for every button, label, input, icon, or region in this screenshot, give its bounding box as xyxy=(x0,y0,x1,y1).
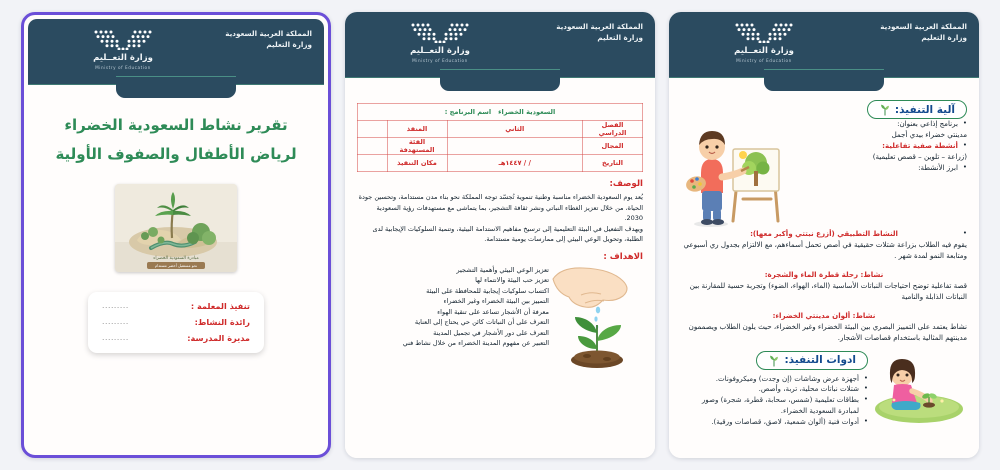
card1-body: آلية التنفيذ: برنامج إذاعي بعنوان: xyxy=(669,78,979,458)
row-0-label2: المنفذ xyxy=(387,121,447,138)
row-2-value2 xyxy=(358,155,388,172)
mechanism-text-col: برنامج إذاعي بعنوان: مدينتي خضراء بيدي أ… xyxy=(799,119,967,173)
moe-header: المملكة العربية السعودية وزارة التعليم xyxy=(669,12,979,78)
saudi-dots-mark-icon xyxy=(92,29,154,50)
signature-box: تنفيذ المعلمة : ......... رائدة النشاط: … xyxy=(88,292,264,353)
moe-logo: وزارة التعــليم Ministry of Education xyxy=(92,29,154,70)
signature-row: رائدة النشاط: ......... xyxy=(102,317,250,327)
signature-row: مديرة المدرسة: ......... xyxy=(102,333,250,343)
tools-bullets: أجهزة عرض وشاشات (إن وجدت) وميكروفونات. … xyxy=(681,374,868,428)
activity-1-text: قصة تفاعلية توضح احتياجات النباتات الأسا… xyxy=(681,281,967,303)
tools-heading-label: ادوات التنفيذ: xyxy=(784,354,856,366)
kingdom-heading: المملكة العربية السعودية وزارة التعليم xyxy=(556,21,643,43)
table-row: التاريخ / / ١٤٤٧هـ مكان التنفيذ xyxy=(358,155,643,172)
signature-dots[interactable]: ......... xyxy=(102,301,129,310)
kingdom-line-1: المملكة العربية السعودية xyxy=(556,21,643,32)
header-tab-shape xyxy=(440,69,560,91)
table-row: الفصل الدراسي الثاني المنفذ xyxy=(358,121,643,138)
program-info-table: السعودية الخضراء اسم البرنامج : الفصل ال… xyxy=(357,103,643,172)
row-1-label: المجال xyxy=(583,138,643,155)
goal-item: التعرف على أن النباتات كائن حي يحتاج إلى… xyxy=(357,317,549,328)
moe-logo: وزارة التعــليم Ministry of Education xyxy=(733,22,795,63)
activity-2: نشاط: ألوان مدينتي الخضراء: نشاط يعتمد ع… xyxy=(681,303,967,344)
list-item: أنشطة صفية تفاعلية: xyxy=(799,141,967,152)
saudi-green-initiative-illustration: مبادرة السعودية الخضراء نحو مستقبل أخضر … xyxy=(115,184,237,272)
mechanism-bullets-2: أنشطة صفية تفاعلية: xyxy=(799,141,967,152)
row-2-value: / / ١٤٤٧هـ xyxy=(447,155,583,172)
kingdom-heading: المملكة العربية السعودية وزارة التعليم xyxy=(225,28,312,50)
list-item: بطاقات تعليمية (شمس، سحابة، قطرة، شجرة) … xyxy=(681,395,868,417)
goal-item: معرفة أن الأشجار تساعد على تنقية الهواء xyxy=(357,307,549,318)
card2-inner: المملكة العربية السعودية وزارة التعليم xyxy=(345,12,655,458)
sprout-icon xyxy=(768,354,780,367)
signature-label: مديرة المدرسة: xyxy=(187,333,250,343)
row-0-value: الثاني xyxy=(447,121,583,138)
description-heading: الوصف: xyxy=(357,179,643,189)
cover-title-line-2: لرياض الأطفال والصفوف الأولية xyxy=(55,140,296,169)
row-0-label: الفصل الدراسي xyxy=(583,121,643,138)
girl-planting-icon xyxy=(872,351,967,425)
row-1-value xyxy=(447,138,583,155)
kingdom-line-1: المملكة العربية السعودية xyxy=(880,21,967,32)
report-card-details: المملكة العربية السعودية وزارة التعليم xyxy=(345,12,655,458)
description-paragraph-1: ويهدف التفعيل في البيئة التعليمية إلى تر… xyxy=(357,224,643,245)
row-0-value2 xyxy=(358,121,388,138)
kingdom-line-2: وزارة التعليم xyxy=(225,39,312,50)
activity-2-text: نشاط يعتمد على التمييز البصري بين البيئة… xyxy=(681,322,967,344)
activity-0-text: يقوم فيه الطلاب بزراعة شتلات حقيقية في أ… xyxy=(681,240,967,262)
sprout-icon xyxy=(879,103,891,116)
description-body: يُعد يوم السعودية الخضراء مناسبة وطنية ت… xyxy=(357,192,643,245)
row-2-label2: مكان التنفيذ xyxy=(387,155,447,172)
header-tab-shape xyxy=(764,69,884,91)
report-cover-card: المملكة العربية السعودية وزارة التعليم xyxy=(21,12,331,458)
moe-logo-english: Ministry of Education xyxy=(412,58,468,63)
goal-item: التعبير عن مفهوم المدينة الخضراء من خلال… xyxy=(357,338,549,349)
signature-label: رائدة النشاط: xyxy=(195,317,250,327)
cover-thumbnail: مبادرة السعودية الخضراء نحو مستقبل أخضر … xyxy=(115,184,237,272)
thumbnail-caption-ar: مبادرة السعودية الخضراء xyxy=(153,256,198,261)
activity-1-title: نشاط: رحلة قطرة الماء والشجرة: xyxy=(765,270,884,279)
mechanism-bullet-1-detail: (زراعة – تلوين – قصص تعليمية) xyxy=(799,152,967,163)
signature-row: تنفيذ المعلمة : ......... xyxy=(102,301,250,311)
goal-item: التمييز بين البيئة الخضراء وغير الخضراء xyxy=(357,296,549,307)
moe-logo: وزارة التعــليم Ministry of Education xyxy=(409,22,471,63)
program-name-label: اسم البرنامج : xyxy=(445,108,491,116)
list-item: ابرز الأنشطة: xyxy=(799,163,967,174)
activity-1: نشاط: رحلة قطرة الماء والشجرة: قصة تفاعل… xyxy=(681,262,967,303)
mechanism-content-row: برنامج إذاعي بعنوان: مدينتي خضراء بيدي أ… xyxy=(681,119,967,229)
activity-0: النشاط التطبيقي (أزرع نبتتي وأكبر معها):… xyxy=(681,229,967,262)
card1-inner: المملكة العربية السعودية وزارة التعليم xyxy=(669,12,979,458)
description-paragraph-0: يُعد يوم السعودية الخضراء مناسبة وطنية ت… xyxy=(357,192,643,224)
thumbnail-caption-badge: نحو مستقبل أخضر مستدام xyxy=(155,263,197,268)
hand-watering-seedling-icon xyxy=(551,261,643,369)
tools-text-col: ادوات التنفيذ: أجهزة عرض وشاشات (إن وجدت… xyxy=(681,351,868,428)
kingdom-heading: المملكة العربية السعودية وزارة التعليم xyxy=(880,21,967,43)
moe-logo-arabic: وزارة التعــليم xyxy=(93,53,153,63)
list-item: النشاط التطبيقي (أزرع نبتتي وأكبر معها): xyxy=(681,229,967,240)
tools-heading-row: ادوات التنفيذ: xyxy=(681,351,868,370)
goal-item: اكتساب سلوكيات إيجابية للمحافظة على البي… xyxy=(357,286,549,297)
mechanism-bullet-0-detail: مدينتي خضراء بيدي أجمل xyxy=(799,130,967,141)
signature-label: تنفيذ المعلمة : xyxy=(191,301,250,311)
row-1-label2: الفئة المستهدفة xyxy=(387,138,447,155)
kingdom-line-2: وزارة التعليم xyxy=(556,32,643,43)
list-item: أدوات فنية (ألوان شمعية، لاصق، قصاصات ور… xyxy=(681,417,868,428)
moe-logo-arabic: وزارة التعــليم xyxy=(410,46,470,56)
list-item: برنامج إذاعي بعنوان: xyxy=(799,119,967,130)
saudi-dots-mark-icon xyxy=(409,22,471,43)
list-item: أجهزة عرض وشاشات (إن وجدت) وميكروفونات. xyxy=(681,374,868,385)
activity-0-bullet: النشاط التطبيقي (أزرع نبتتي وأكبر معها): xyxy=(681,229,967,240)
card2-body: السعودية الخضراء اسم البرنامج : الفصل ال… xyxy=(345,78,655,458)
mechanism-bullets-3: ابرز الأنشطة: xyxy=(799,163,967,174)
signature-dots[interactable]: ......... xyxy=(102,333,129,342)
header-tab-shape xyxy=(116,76,236,98)
activity-2-title: نشاط: ألوان مدينتي الخضراء: xyxy=(773,311,876,320)
goals-section: تعزيز الوعي البيئي وأهمية التشجير تعزيز … xyxy=(357,265,643,369)
cover-title-line-1: تقرير نشاط السعودية الخضراء xyxy=(64,111,287,140)
mechanism-heading-pill: آلية التنفيذ: xyxy=(867,100,967,119)
signature-dots[interactable]: ......... xyxy=(102,317,129,326)
goal-item: تعزيز الوعي البيئي وأهمية التشجير xyxy=(357,265,549,276)
program-name-value: السعودية الخضراء xyxy=(498,108,555,116)
row-2-label: التاريخ xyxy=(583,155,643,172)
kingdom-line-1: المملكة العربية السعودية xyxy=(225,28,312,39)
moe-header: المملكة العربية السعودية وزارة التعليم xyxy=(345,12,655,78)
table-row: السعودية الخضراء اسم البرنامج : xyxy=(358,104,643,121)
moe-header: المملكة العربية السعودية وزارة التعليم xyxy=(28,19,324,85)
tools-section: ادوات التنفيذ: أجهزة عرض وشاشات (إن وجدت… xyxy=(681,351,967,428)
goal-item: تعزيز حب البيئة والانتماء لها xyxy=(357,275,549,286)
goal-item: التعرف على دور الأشجار في تجميل المدينة xyxy=(357,328,549,339)
program-title-cell: السعودية الخضراء اسم البرنامج : xyxy=(358,104,643,121)
mechanism-heading-row: آلية التنفيذ: xyxy=(681,100,967,119)
report-card-mechanism: المملكة العربية السعودية وزارة التعليم xyxy=(669,12,979,458)
kingdom-line-2: وزارة التعليم xyxy=(880,32,967,43)
mechanism-bullets: برنامج إذاعي بعنوان: xyxy=(799,119,967,130)
moe-logo-english: Ministry of Education xyxy=(95,65,151,70)
card3-inner: المملكة العربية السعودية وزارة التعليم xyxy=(28,19,324,451)
list-item: شتلات نباتات محلية، تربة، وأصص. xyxy=(681,384,868,395)
moe-logo-arabic: وزارة التعــليم xyxy=(734,46,794,56)
row-1-value2 xyxy=(358,138,388,155)
goals-list: تعزيز الوعي البيئي وأهمية التشجير تعزيز … xyxy=(357,265,549,349)
tools-heading-pill: ادوات التنفيذ: xyxy=(756,351,868,370)
table-row: المجال الفئة المستهدفة xyxy=(358,138,643,155)
moe-logo-english: Ministry of Education xyxy=(736,58,792,63)
mechanism-heading-label: آلية التنفيذ: xyxy=(895,104,955,116)
cover-body: تقرير نشاط السعودية الخضراء لرياض الأطفا… xyxy=(28,85,324,451)
saudi-dots-mark-icon xyxy=(733,22,795,43)
boy-painting-tree-icon xyxy=(681,121,791,229)
